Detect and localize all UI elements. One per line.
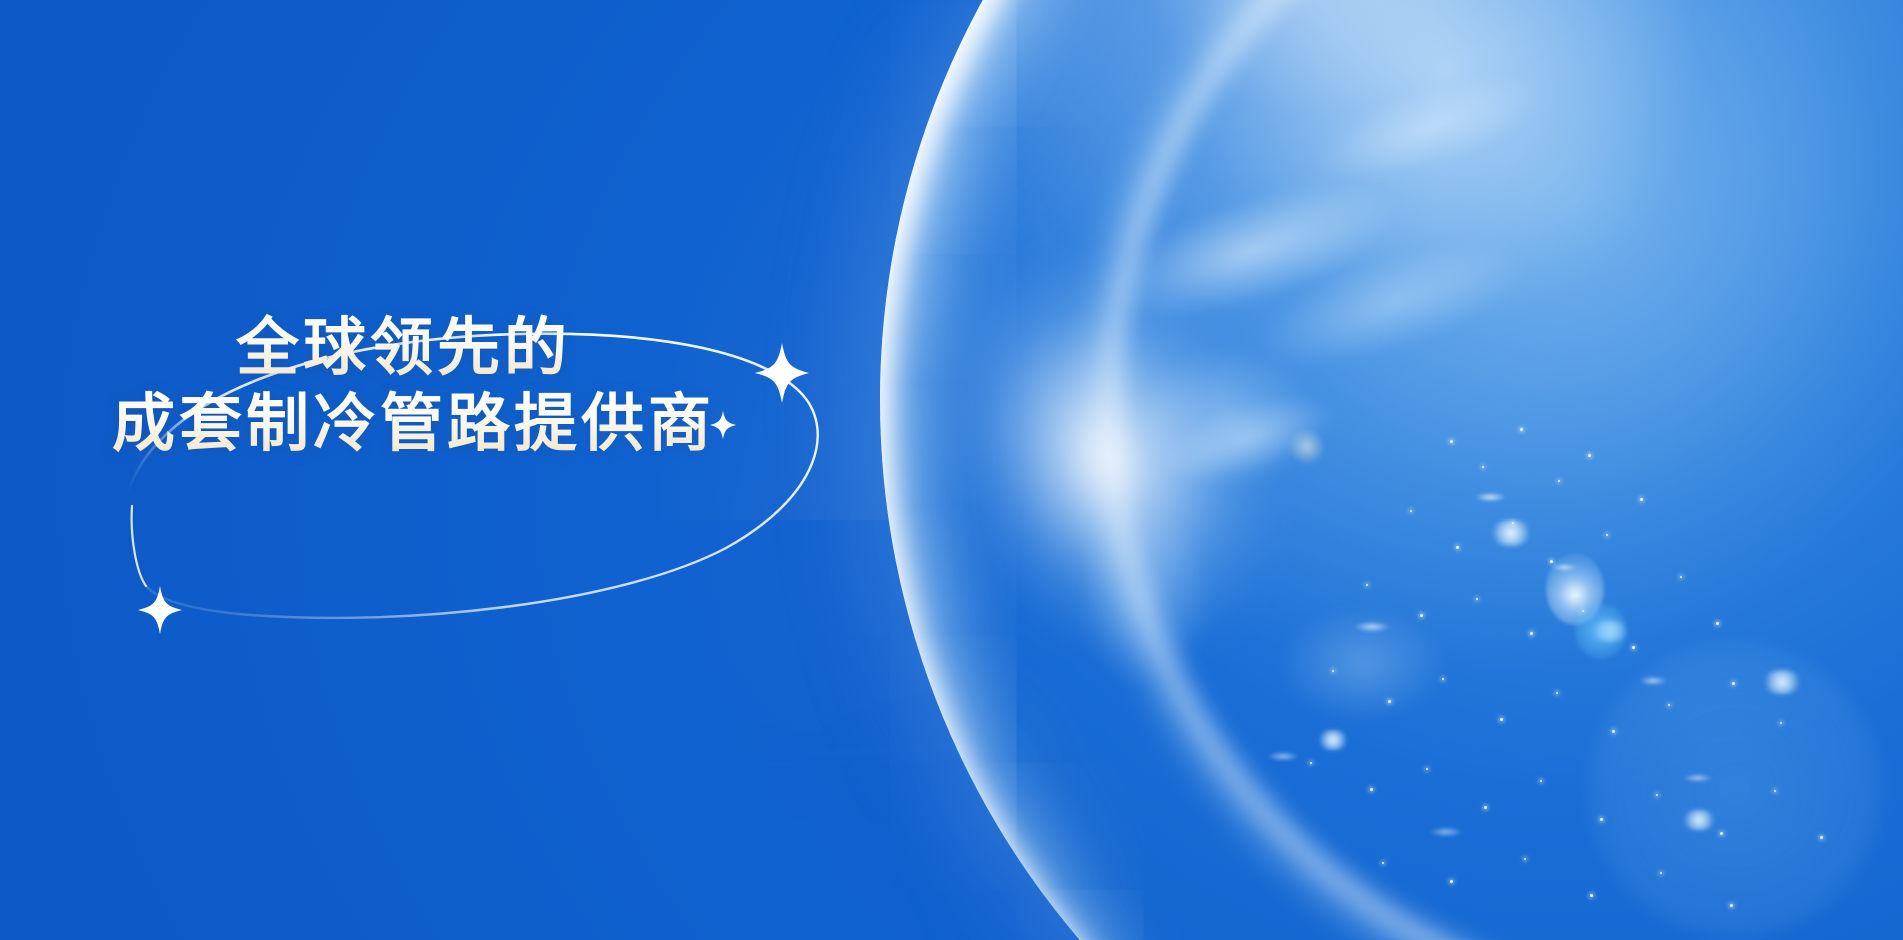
page-title: 全球领先的 成套制冷管路提供商 (112, 310, 812, 462)
hero-banner: 全球领先的 成套制冷管路提供商 (0, 0, 1903, 940)
headline-line-2: 成套制冷管路提供商 (112, 386, 812, 462)
headline-line-1: 全球领先的 (236, 310, 812, 386)
